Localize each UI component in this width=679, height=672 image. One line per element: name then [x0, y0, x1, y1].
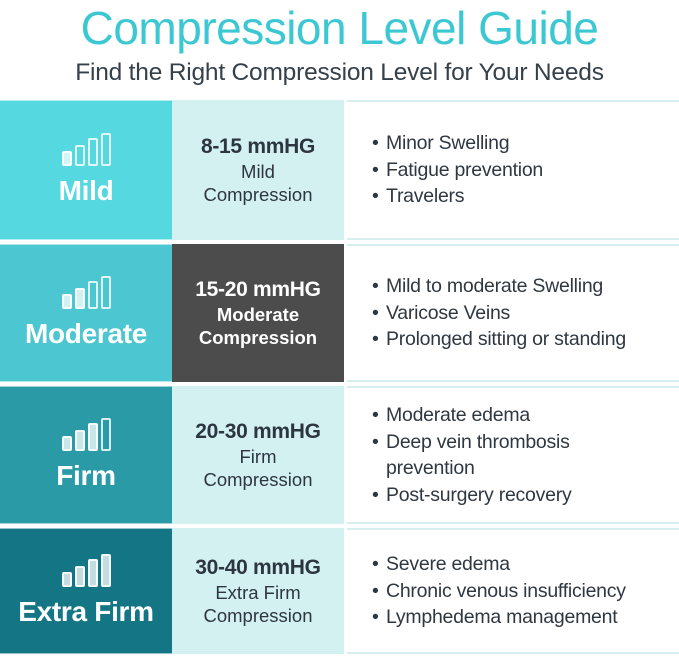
- uses-list: Moderate edema Deep vein thrombosis prev…: [372, 402, 679, 508]
- uses-cell-extra-firm: Severe edema Chronic venous insufficienc…: [347, 528, 679, 654]
- uses-cell-firm: Moderate edema Deep vein thrombosis prev…: [347, 386, 679, 524]
- mmhg-sub-line-1: Firm: [240, 445, 277, 468]
- bar-chart-level-3-icon: [62, 419, 111, 451]
- header: Compression Level Guide Find the Right C…: [0, 0, 679, 89]
- bar-chart-level-4-icon: [62, 555, 111, 587]
- bar-2: [75, 566, 85, 587]
- bar-chart-level-1-icon: [62, 134, 111, 166]
- mmhg-sub-line-2: Compression: [199, 326, 317, 349]
- compression-levels-table: Mild 8-15 mmHG Mild Compression Minor Sw…: [0, 100, 679, 654]
- bar-2: [75, 430, 85, 451]
- mmhg-value: 15-20 mmHG: [195, 277, 320, 303]
- uses-list: Mild to moderate Swelling Varicose Veins…: [372, 273, 679, 353]
- list-item: Chronic venous insufficiency: [372, 578, 679, 605]
- list-item: Prolonged sitting or standing: [372, 326, 679, 353]
- table-row: Extra Firm 30-40 mmHG Extra Firm Compres…: [0, 528, 679, 654]
- uses-list: Minor Swelling Fatigue prevention Travel…: [372, 130, 679, 210]
- compression-level-guide-infographic: Compression Level Guide Find the Right C…: [0, 0, 679, 672]
- bar-1: [62, 151, 72, 166]
- list-item: Lymphedema management: [372, 604, 679, 631]
- list-item: Post-surgery recovery: [372, 482, 679, 509]
- bar-4: [101, 133, 111, 166]
- list-item: Fatigue prevention: [372, 157, 679, 184]
- uses-cell-moderate: Mild to moderate Swelling Varicose Veins…: [347, 244, 679, 382]
- mmhg-sub-line-1: Mild: [241, 160, 275, 183]
- mmhg-cell-firm: 20-30 mmHG Firm Compression: [172, 386, 344, 524]
- mmhg-value: 30-40 mmHG: [195, 555, 320, 581]
- mmhg-sub-line-1: Moderate: [217, 303, 299, 326]
- list-item: Mild to moderate Swelling: [372, 273, 679, 300]
- mmhg-sub-line-2: Compression: [204, 604, 313, 627]
- bar-1: [62, 436, 72, 451]
- list-item: Moderate edema: [372, 402, 679, 429]
- uses-list: Severe edema Chronic venous insufficienc…: [372, 551, 679, 631]
- list-item: Severe edema: [372, 551, 679, 578]
- bar-3: [88, 559, 98, 587]
- bar-4: [101, 554, 111, 587]
- page-subtitle: Find the Right Compression Level for You…: [4, 55, 675, 89]
- level-label: Firm: [56, 460, 115, 492]
- page-title: Compression Level Guide: [4, 0, 675, 55]
- mmhg-cell-extra-firm: 30-40 mmHG Extra Firm Compression: [172, 528, 344, 654]
- bar-2: [75, 145, 85, 166]
- list-item: Travelers: [372, 183, 679, 210]
- list-item: Minor Swelling: [372, 130, 679, 157]
- list-item: Deep vein thrombosis prevention: [372, 429, 622, 482]
- bar-chart-level-2-icon: [62, 277, 111, 309]
- mmhg-sub-line-2: Compression: [204, 468, 313, 491]
- mmhg-value: 8-15 mmHG: [201, 134, 315, 160]
- mmhg-sub-line-1: Extra Firm: [215, 581, 300, 604]
- level-cell-mild: Mild: [0, 100, 172, 240]
- uses-cell-mild: Minor Swelling Fatigue prevention Travel…: [347, 100, 679, 240]
- level-label: Moderate: [25, 318, 147, 350]
- bar-1: [62, 572, 72, 587]
- level-cell-firm: Firm: [0, 386, 172, 524]
- bar-1: [62, 294, 72, 309]
- level-cell-moderate: Moderate: [0, 244, 172, 382]
- bar-4: [101, 276, 111, 309]
- list-item: Varicose Veins: [372, 300, 679, 327]
- mmhg-sub-line-2: Compression: [204, 183, 313, 206]
- bar-3: [88, 138, 98, 166]
- mmhg-cell-mild: 8-15 mmHG Mild Compression: [172, 100, 344, 240]
- bar-3: [88, 281, 98, 309]
- table-row: Moderate 15-20 mmHG Moderate Compression…: [0, 244, 679, 382]
- level-label: Mild: [59, 175, 114, 207]
- table-row: Mild 8-15 mmHG Mild Compression Minor Sw…: [0, 100, 679, 240]
- mmhg-cell-moderate: 15-20 mmHG Moderate Compression: [172, 244, 344, 382]
- level-cell-extra-firm: Extra Firm: [0, 528, 172, 654]
- mmhg-value: 20-30 mmHG: [195, 419, 320, 445]
- bar-4: [101, 418, 111, 451]
- table-row: Firm 20-30 mmHG Firm Compression Moderat…: [0, 386, 679, 524]
- bar-3: [88, 423, 98, 451]
- level-label: Extra Firm: [18, 596, 154, 628]
- bar-2: [75, 288, 85, 309]
